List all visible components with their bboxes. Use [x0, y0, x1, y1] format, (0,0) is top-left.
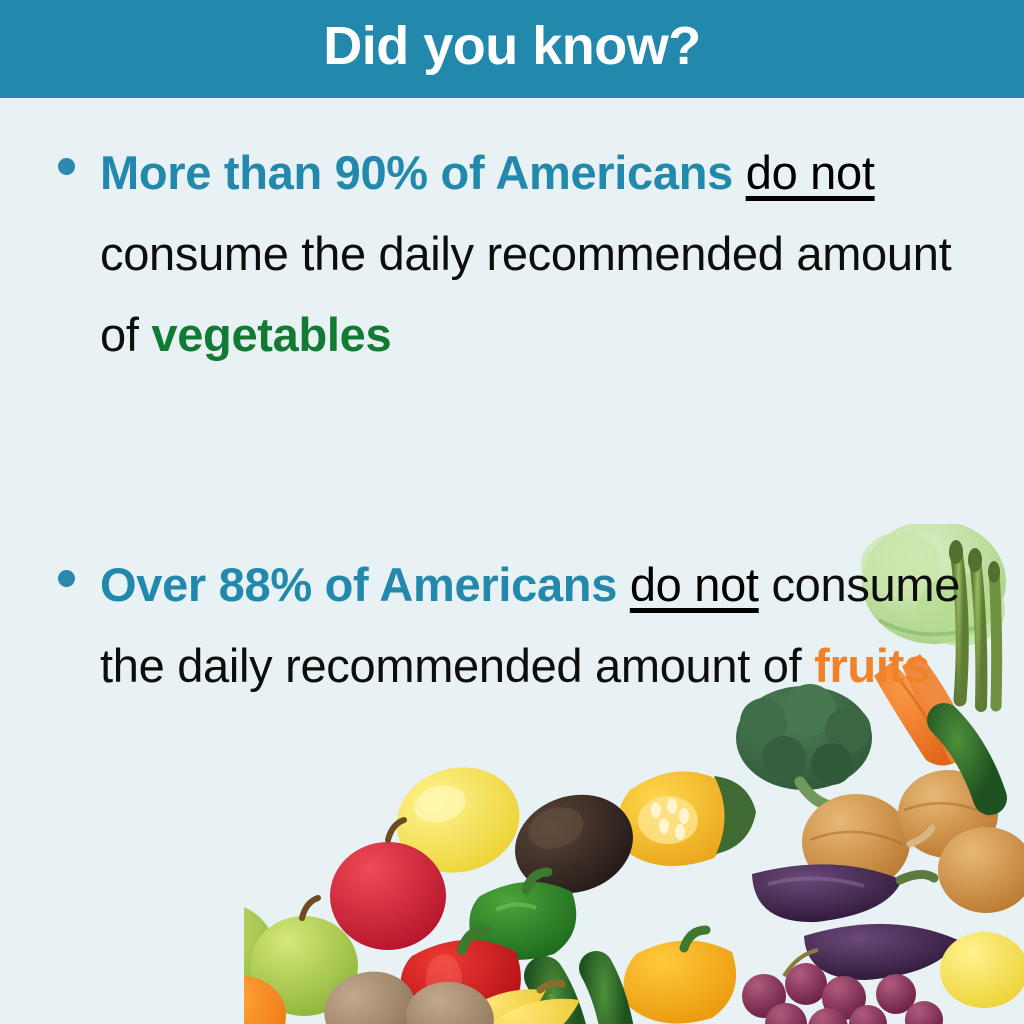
fact-lead-fruits: Over 88% of Americans [100, 558, 617, 611]
facts-list: More than 90% of Americans do not consum… [0, 98, 1024, 1024]
bullet-dot-icon [58, 158, 75, 175]
fact-item-vegetables: More than 90% of Americans do not consum… [52, 132, 982, 375]
infographic-poster: Did you know? [0, 0, 1024, 1024]
bullet-dot-icon [58, 570, 75, 587]
fact-text-vegetables: More than 90% of Americans do not consum… [52, 132, 982, 375]
header-band: Did you know? [0, 0, 1024, 98]
fact-item-fruits: Over 88% of Americans do not consume the… [52, 544, 982, 706]
fact-negation-vegetables: do not [746, 146, 875, 199]
fact-keyword-vegetables: vegetables [151, 308, 391, 361]
fact-lead-vegetables: More than 90% of Americans [100, 146, 733, 199]
page-title: Did you know? [323, 19, 701, 73]
fact-keyword-fruits: fruits [814, 639, 930, 692]
fact-negation-fruits: do not [630, 558, 759, 611]
fact-text-fruits: Over 88% of Americans do not consume the… [52, 544, 982, 706]
